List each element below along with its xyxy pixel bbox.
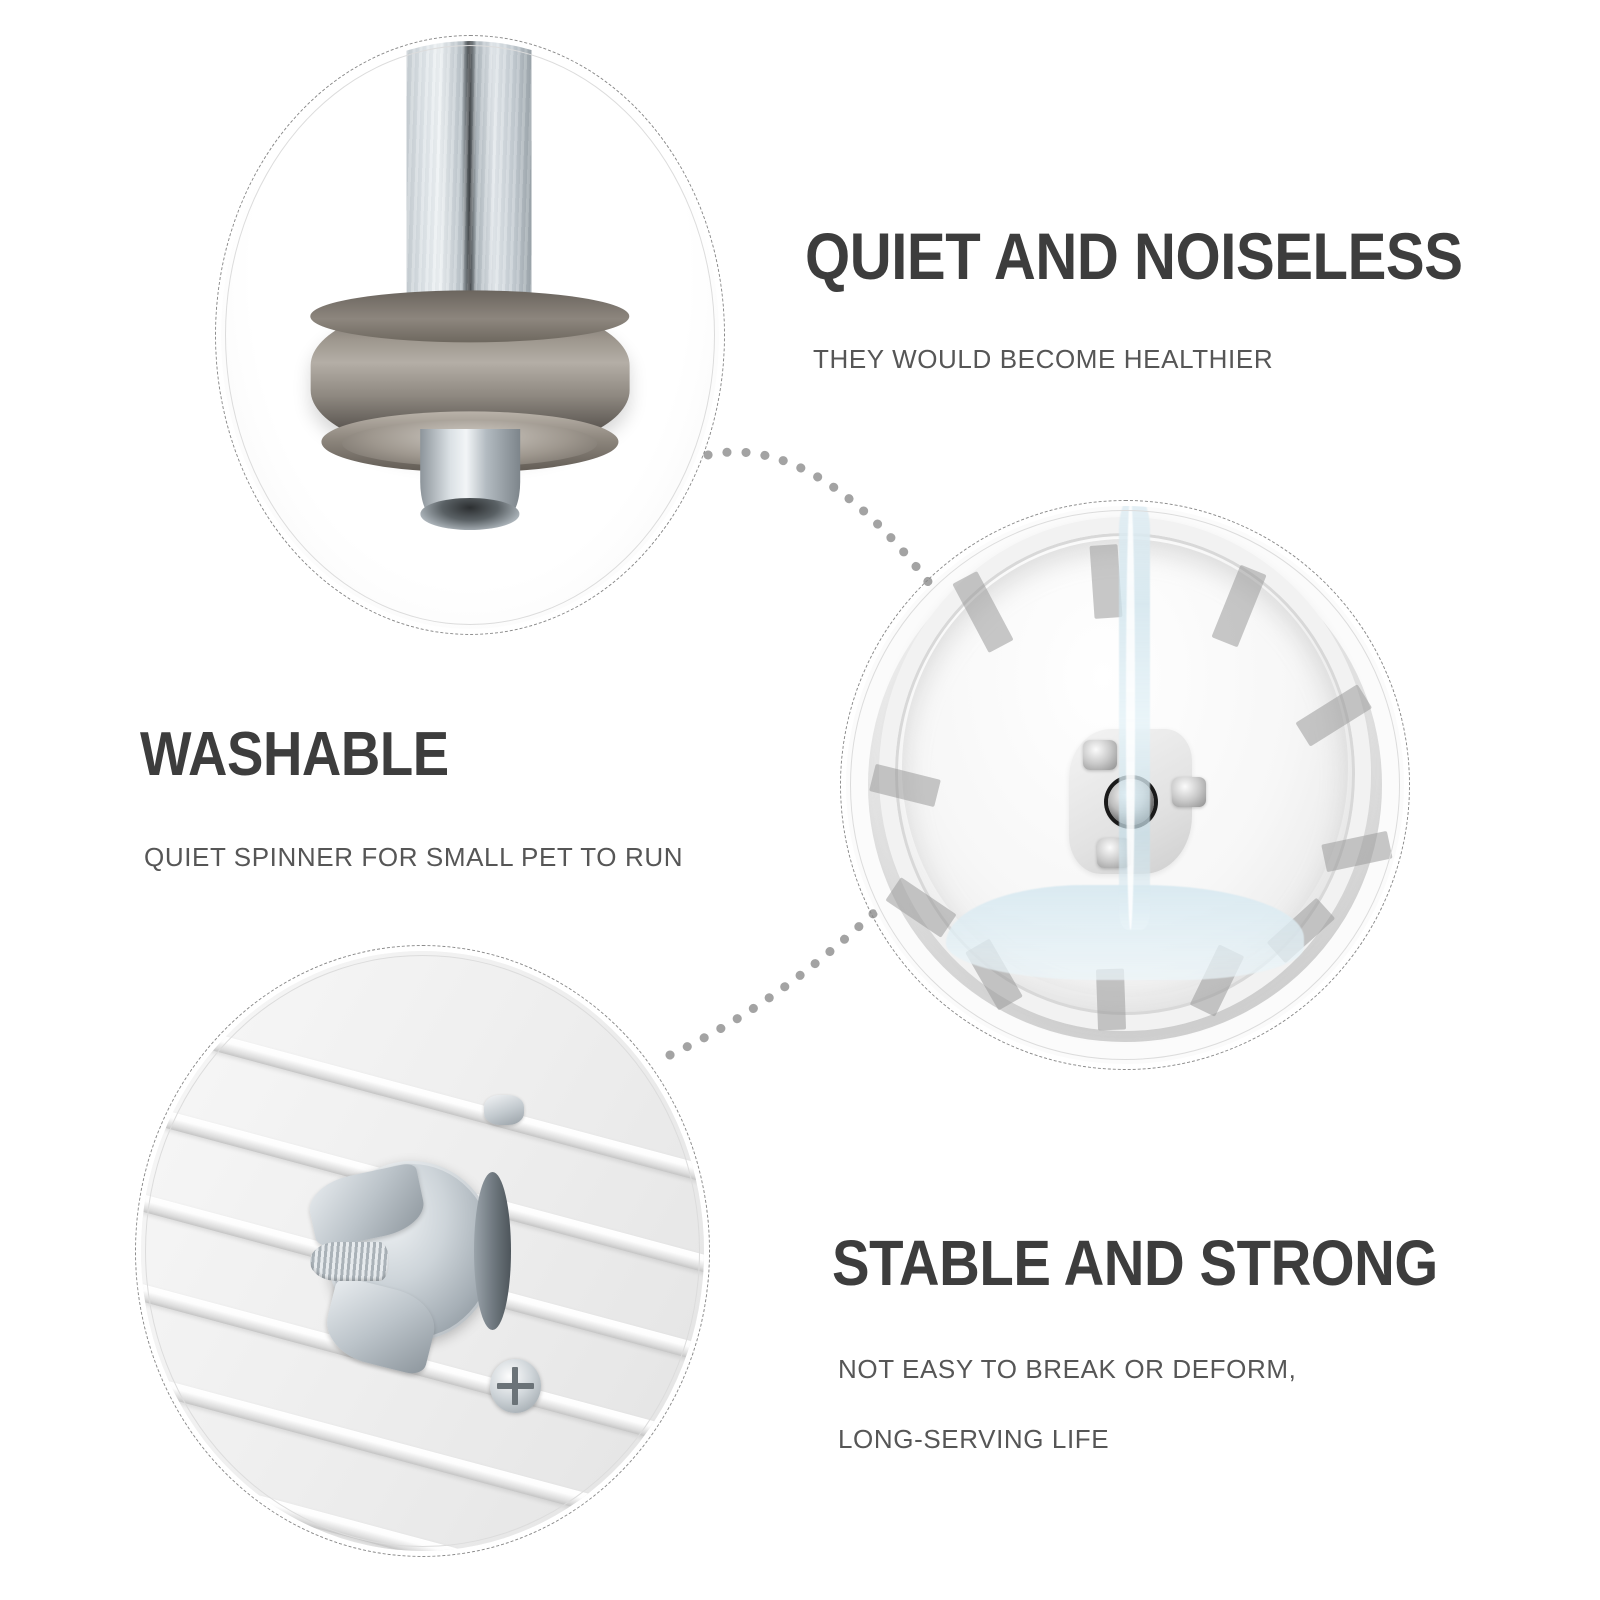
feature-stable-and-strong: STABLE AND STRONG NOT EASY TO BREAK OR D… (832, 1230, 1520, 1462)
bearing-photo-dashed-ring (215, 35, 725, 635)
feature-subline: NOT EASY TO BREAK OR DEFORM, (838, 1347, 1520, 1393)
feature-subline: LONG-SERVING LIFE (838, 1417, 1520, 1463)
mount-photo (135, 945, 710, 1557)
feature-washable: WASHABLE QUIET SPINNER FOR SMALL PET TO … (140, 722, 683, 881)
feature-subline: QUIET SPINNER FOR SMALL PET TO RUN (144, 835, 683, 881)
washing-photo (840, 500, 1410, 1070)
mount-photo-dashed-ring (135, 945, 710, 1557)
feature-subline: THEY WOULD BECOME HEALTHIER (813, 337, 1552, 383)
feature-headline: QUIET AND NOISELESS (805, 222, 1462, 291)
bearing-photo (215, 35, 725, 635)
feature-headline: STABLE AND STRONG (832, 1230, 1438, 1297)
product-feature-infographic: QUIET AND NOISELESS THEY WOULD BECOME HE… (0, 0, 1600, 1600)
washing-photo-dashed-ring (840, 500, 1410, 1070)
feature-quiet-and-noiseless: QUIET AND NOISELESS THEY WOULD BECOME HE… (805, 222, 1552, 383)
feature-headline: WASHABLE (140, 722, 618, 787)
